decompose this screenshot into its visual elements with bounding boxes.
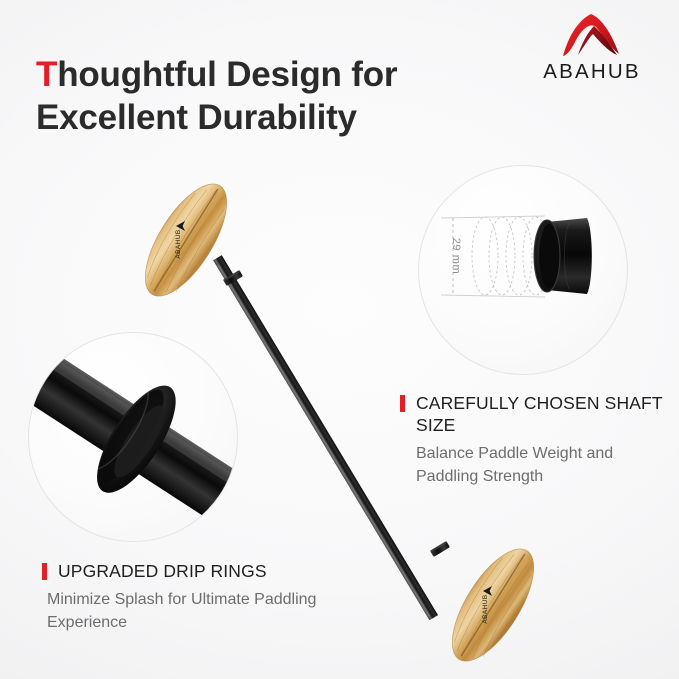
brand-name-text: ABAHUB xyxy=(527,62,657,83)
headline-line1-rest: houghtful Design for xyxy=(57,55,397,94)
shaft-size-detail-circle: 29 mm xyxy=(418,165,628,375)
infographic-canvas: ABAHUB ABAHUB xyxy=(0,0,679,679)
callout-drip-heading: UPGRADED DRIP RINGS xyxy=(42,560,342,582)
shaft-size-diagram: 29 mm xyxy=(419,166,627,374)
headline-line2: Excellent Durability xyxy=(36,98,357,137)
abahub-swoosh-icon xyxy=(561,12,623,58)
drip-ring-upper xyxy=(223,270,243,286)
callout-drip-title: UPGRADED DRIP RINGS xyxy=(58,560,267,582)
red-accent-bar-icon xyxy=(42,563,47,580)
callout-shaft-subtitle: Balance Paddle Weight and Paddling Stren… xyxy=(416,443,668,488)
callout-drip-subtitle: Minimize Splash for Ultimate Paddling Ex… xyxy=(47,589,342,634)
drip-ring-diagram xyxy=(29,333,237,541)
drip-ring-lower xyxy=(430,541,450,557)
shaft-diameter-label: 29 mm xyxy=(450,238,462,275)
callout-shaft-heading: CAREFULLY CHOSEN SHAFT SIZE xyxy=(400,392,668,436)
page-title: Thoughtful Design for Excellent Durabili… xyxy=(36,53,466,139)
shaft-cylinder-object xyxy=(534,218,592,294)
callout-drip-rings: UPGRADED DRIP RINGS Minimize Splash for … xyxy=(42,560,342,635)
headline-accent-letter: T xyxy=(36,55,57,94)
drip-ring-detail-circle xyxy=(28,332,238,542)
brand-logo: ABAHUB xyxy=(527,12,657,83)
callout-shaft-size: CAREFULLY CHOSEN SHAFT SIZE Balance Padd… xyxy=(400,392,668,489)
red-accent-bar-icon xyxy=(400,395,405,412)
callout-shaft-title: CAREFULLY CHOSEN SHAFT SIZE xyxy=(416,392,668,436)
blade-brand-text-top: ABAHUB xyxy=(175,229,182,258)
blade-brand-text-bottom: ABAHUB xyxy=(482,594,489,623)
drip-ring-object xyxy=(29,333,237,541)
